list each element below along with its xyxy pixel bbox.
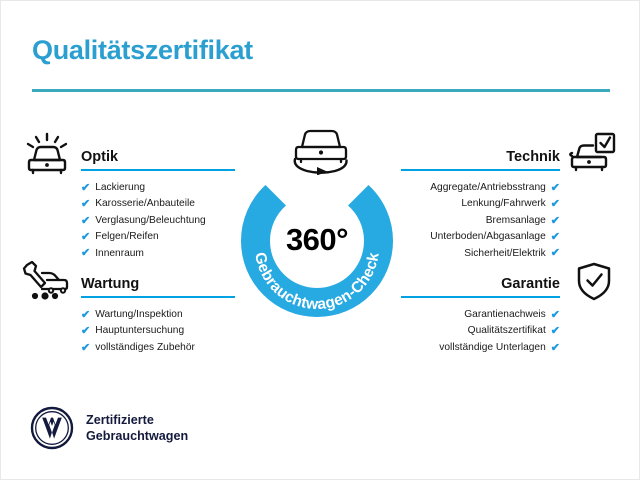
list-item: ✔Felgen/Reifen [81,229,235,245]
shield-check-icon [575,260,613,309]
check-icon: ✔ [81,183,90,194]
page-title: Qualitätszertifikat [32,35,253,66]
list-item-label: Hauptuntersuchung [95,323,184,339]
section-divider [81,296,235,298]
list-item-label: Lackierung [95,180,145,196]
checklist: Aggregate/Antriebsstrang✔ Lenkung/Fahrwe… [401,180,560,262]
list-item-label: Qualitätszertifikat [468,323,546,339]
section-title: Optik [81,149,118,165]
list-item-label: Unterboden/Abgasanlage [430,229,546,245]
section-divider [81,169,235,171]
checklist: Garantienachweis✔ Qualitätszertifikat✔ v… [401,307,560,356]
check-icon: ✔ [551,343,560,354]
footer-branding: Zertifizierte Gebrauchtwagen [30,406,188,450]
section-garantie: Garantie Garantienachweis✔ Qualitätszert… [401,270,560,356]
check-icon: ✔ [81,232,90,243]
list-item: Bremsanlage✔ [401,213,560,229]
list-item: Aggregate/Antriebsstrang✔ [401,180,560,196]
check-icon: ✔ [551,232,560,243]
list-item: ✔Hauptuntersuchung [81,323,235,339]
list-item-label: vollständige Unterlagen [439,340,545,356]
section-title: Garantie [501,276,560,292]
section-title: Technik [506,149,560,165]
section-divider [401,169,560,171]
check-icon: ✔ [551,199,560,210]
list-item-label: vollständiges Zubehör [95,340,195,356]
check-icon: ✔ [81,216,90,227]
list-item-label: Lenkung/Fahrwerk [461,196,545,212]
checklist: ✔Wartung/Inspektion ✔Hauptuntersuchung ✔… [81,307,235,356]
section-technik: Technik Aggregate/Antriebsstrang✔ Lenkun… [401,143,560,262]
check-icon: ✔ [81,343,90,354]
checklist: ✔Lackierung ✔Karosserie/Anbauteile ✔Verg… [81,180,235,262]
footer-line-2: Gebrauchtwagen [86,428,188,444]
wrench-car-icon [21,259,71,308]
list-item: ✔Innenraum [81,246,235,262]
section-header: Optik [81,143,235,171]
check-icon: ✔ [81,199,90,210]
section-header: Wartung [81,270,235,298]
check-icon: ✔ [551,183,560,194]
car-checkbox-icon [567,131,617,180]
check-icon: ✔ [81,248,90,259]
footer-line-1: Zertifizierte [86,412,188,428]
360-badge: Gebrauchtwagen-Check 360° [229,153,405,329]
list-item: ✔Verglasung/Beleuchtung [81,213,235,229]
section-header: Garantie [401,270,560,298]
check-icon: ✔ [81,310,90,321]
certificate-page: Qualitätszertifikat [0,0,640,480]
footer-text: Zertifizierte Gebrauchtwagen [86,412,188,444]
check-icon: ✔ [81,326,90,337]
list-item: vollständige Unterlagen✔ [401,340,560,356]
check-icon: ✔ [551,248,560,259]
list-item-label: Innenraum [95,246,144,262]
list-item-label: Verglasung/Beleuchtung [95,213,205,229]
badge-center-label: 360° [229,153,405,329]
list-item: Garantienachweis✔ [401,307,560,323]
list-item: Qualitätszertifikat✔ [401,323,560,339]
section-title: Wartung [81,276,139,292]
list-item-label: Aggregate/Antriebsstrang [430,180,546,196]
list-item: ✔Wartung/Inspektion [81,307,235,323]
list-item-label: Sicherheit/Elektrik [464,246,546,262]
list-item: ✔Karosserie/Anbauteile [81,196,235,212]
list-item: ✔vollständiges Zubehör [81,340,235,356]
list-item-label: Bremsanlage [486,213,546,229]
check-icon: ✔ [551,326,560,337]
vw-roundel-logo [30,406,74,450]
check-icon: ✔ [551,310,560,321]
check-icon: ✔ [551,216,560,227]
section-header: Technik [401,143,560,171]
title-divider [32,89,610,92]
list-item: Lenkung/Fahrwerk✔ [401,196,560,212]
section-optik: Optik ✔Lackierung ✔Karosserie/Anbauteile… [81,143,235,262]
list-item: Sicherheit/Elektrik✔ [401,246,560,262]
list-item-label: Karosserie/Anbauteile [95,196,195,212]
car-shine-icon [23,132,73,181]
list-item-label: Felgen/Reifen [95,229,158,245]
list-item: ✔Lackierung [81,180,235,196]
list-item-label: Garantienachweis [464,307,546,323]
section-wartung: Wartung ✔Wartung/Inspektion ✔Hauptunters… [81,270,235,356]
list-item-label: Wartung/Inspektion [95,307,182,323]
list-item: Unterboden/Abgasanlage✔ [401,229,560,245]
section-divider [401,296,560,298]
